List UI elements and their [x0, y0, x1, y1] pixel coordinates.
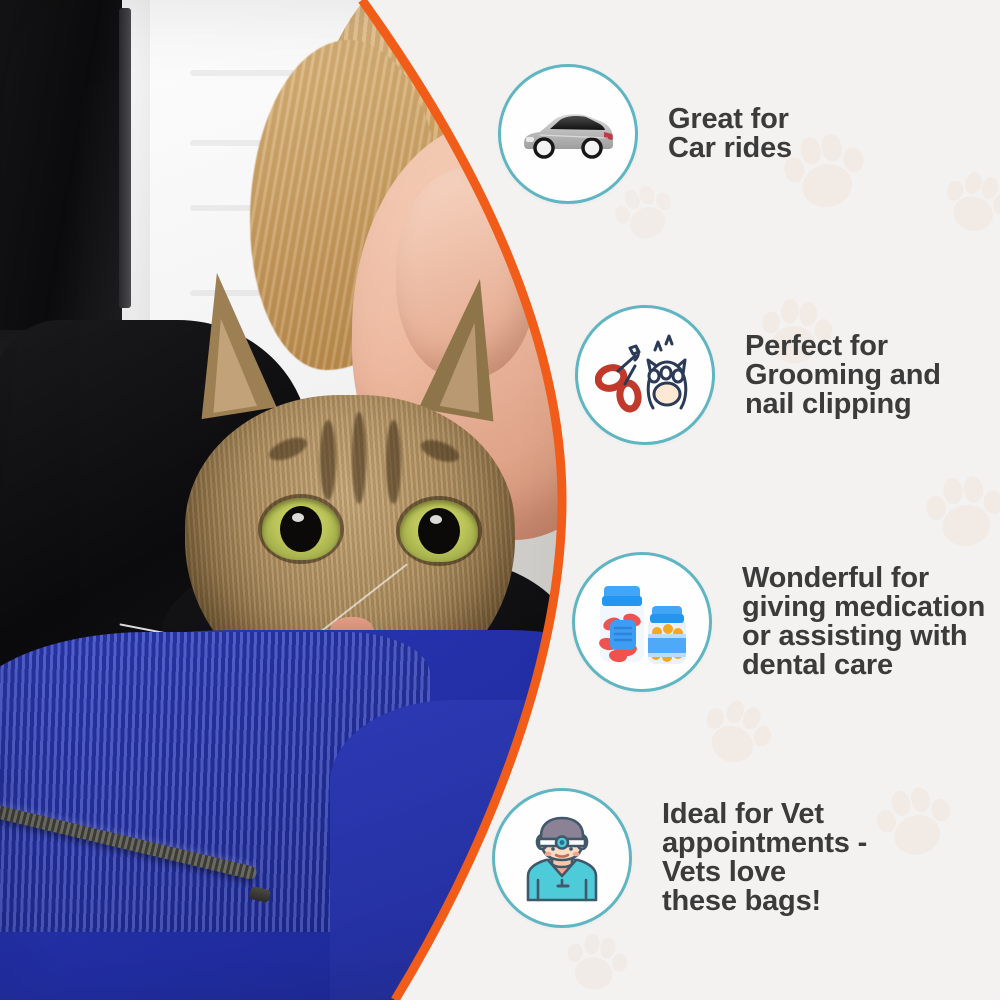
pill-bottles-icon: [572, 552, 712, 692]
infographic-root: Great for Car rides: [0, 0, 1000, 1000]
feature-row-vet: Ideal for Vet appointments - Vets love t…: [492, 788, 867, 928]
paw-print-icon: [917, 467, 1000, 564]
feature-row-grooming: Perfect for Grooming and nail clipping: [575, 305, 941, 445]
feature-label: Great for Car rides: [668, 105, 792, 163]
paw-print-icon: [556, 927, 633, 1000]
feature-label: Ideal for Vet appointments - Vets love t…: [662, 800, 867, 916]
feature-row-medication: Wonderful for giving medication or assis…: [572, 552, 985, 692]
veterinarian-icon: [492, 788, 632, 928]
feature-label: Wonderful for giving medication or assis…: [742, 564, 985, 680]
feature-row-car-rides: Great for Car rides: [498, 64, 792, 204]
car-icon: [498, 64, 638, 204]
nail-clipper-paw-icon: [575, 305, 715, 445]
feature-label: Perfect for Grooming and nail clipping: [745, 332, 941, 419]
